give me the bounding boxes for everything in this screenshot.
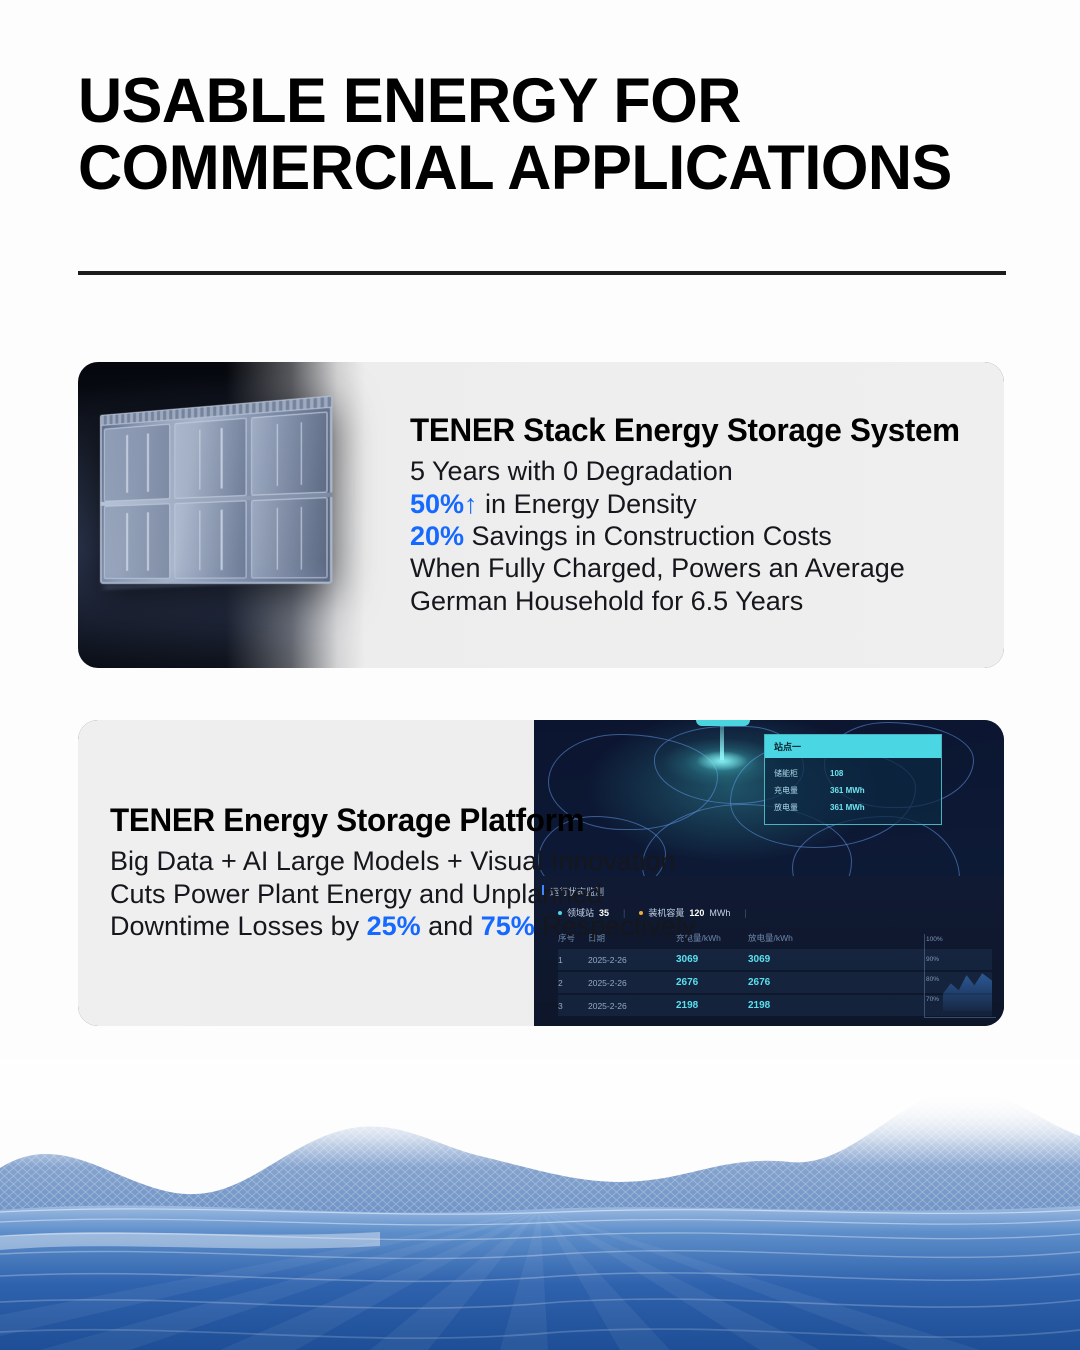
card-tener-platform[interactable]: 站点一 储能柜 108 充电量 361 MWh 放电量 361 MWh [78,720,1004,1026]
card-stack-title: TENER Stack Energy Storage System [410,412,960,449]
site-info-title: 站点一 [765,735,941,758]
header-divider [78,271,1006,275]
card-tener-stack[interactable]: TENER Stack Energy Storage System 5 Year… [78,362,1004,668]
page-title: USABLE ENERGY FOR COMMERCIAL APPLICATION… [78,68,980,202]
stat-construction-savings: 20% [410,521,464,551]
card-platform-text: TENER Energy Storage Platform Big Data +… [110,802,695,942]
header: USABLE ENERGY FOR COMMERCIAL APPLICATION… [78,68,1008,202]
stat-downtime-cut: 75% [481,911,535,941]
stat-energy-density: 50% [410,489,464,519]
site-info-panel: 站点一 储能柜 108 充电量 361 MWh 放电量 361 MWh [764,734,942,825]
card-stack-line-5: German Household for 6.5 Years [410,585,971,617]
card-platform-line-1: Big Data + AI Large Models + Visual Inno… [110,845,695,877]
card-stack-line-2: 50%↑ in Energy Density [410,488,971,520]
mini-chart-area [943,965,992,1011]
card-platform-title: TENER Energy Storage Platform [110,802,684,839]
card-stack-line-3-text: Savings in Construction Costs [464,521,832,551]
card-stack-text: TENER Stack Energy Storage System 5 Year… [410,412,971,617]
site-info-row: 储能柜 108 [774,765,932,782]
wave-svg [0,1060,1080,1350]
site-info-row: 放电量 361 MWh [774,799,932,816]
card-stack-line-4: When Fully Charged, Powers an Average [410,552,971,584]
card-stack-line-3: 20% Savings in Construction Costs [410,520,971,552]
card-platform-line-3: Downtime Losses by 25% and 75% Respectiv… [110,910,695,942]
map-pin-icon [720,720,724,760]
wave-landscape-graphic [0,1060,1080,1350]
up-arrow-icon: ↑ [464,489,478,519]
card-platform-line-2: Cuts Power Plant Energy and Unplanned [110,878,695,910]
map-pin-cap [696,720,750,726]
poster-page: USABLE ENERGY FOR COMMERCIAL APPLICATION… [0,0,1080,1350]
card-stack-line-2-text: in Energy Density [478,489,697,519]
top-haze [0,1060,1080,1146]
kpi-separator: | [744,908,746,918]
mini-chart: 100% 90% 80% 70% [924,934,996,1018]
stat-energy-cut: 25% [367,911,421,941]
card-stack-line-1: 5 Years with 0 Degradation [410,455,971,487]
site-info-row: 充电量 361 MWh [774,782,932,799]
